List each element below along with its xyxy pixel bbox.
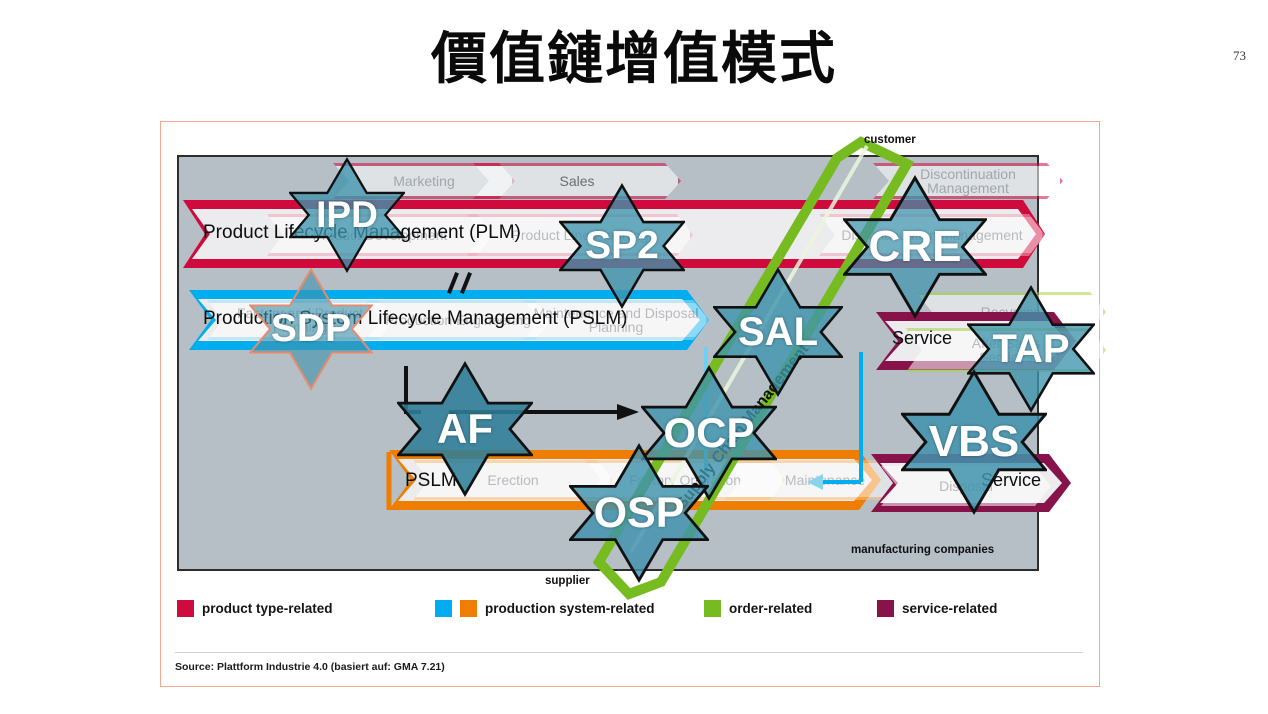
legend-swatch-product-type [177,600,194,617]
page-number: 73 [1233,48,1246,64]
band-title-service-top: Service [892,328,952,349]
label-supplier: supplier [545,575,590,587]
star-label-sp2: SP2 [585,224,659,268]
source-divider [175,652,1083,653]
star-label-vbs: VBS [929,417,1019,467]
star-af[interactable]: AF [397,358,533,500]
star-label-sdp: SDP [271,307,351,351]
legend-item-service: service-related [877,600,997,617]
label-manufacturing-companies: manufacturing companies [851,544,994,556]
page-title: 價值鏈增值模式 [0,14,1268,95]
star-sdp[interactable]: SDP [249,264,373,394]
legend-label-production-system: production system-related [485,601,655,616]
legend-label-service: service-related [902,601,997,616]
star-label-sal: SAL [738,310,818,355]
legend: product type-related production system-r… [177,592,1082,632]
star-vbs[interactable]: VBS [901,366,1047,518]
legend-item-product-type: product type-related [177,600,333,617]
legend-label-product-type: product type-related [202,601,333,616]
legend-swatch-production-system-cyan [435,600,452,617]
legend-swatch-service [877,600,894,617]
star-label-cre: CRE [869,222,962,272]
star-ipd[interactable]: IPD [289,154,405,276]
star-label-af: AF [437,405,493,453]
legend-label-order: order-related [729,601,812,616]
figure-frame: Marketing Sales Discontinuation Manageme… [160,121,1100,687]
star-label-osp: OSP [594,489,685,538]
legend-swatch-production-system-orange [460,600,477,617]
legend-swatch-order [704,600,721,617]
label-customer: customer [864,134,916,146]
legend-item-production-system: production system-related [435,600,655,617]
legend-item-order: order-related [704,600,812,617]
star-sp2[interactable]: SP2 [559,180,685,312]
star-cre[interactable]: CRE [843,172,987,322]
star-label-ipd: IPD [316,194,378,236]
star-label-tap: TAP [992,327,1069,372]
source-note: Source: Plattform Industrie 4.0 (basiert… [175,661,445,673]
star-osp[interactable]: OSP [569,440,709,586]
